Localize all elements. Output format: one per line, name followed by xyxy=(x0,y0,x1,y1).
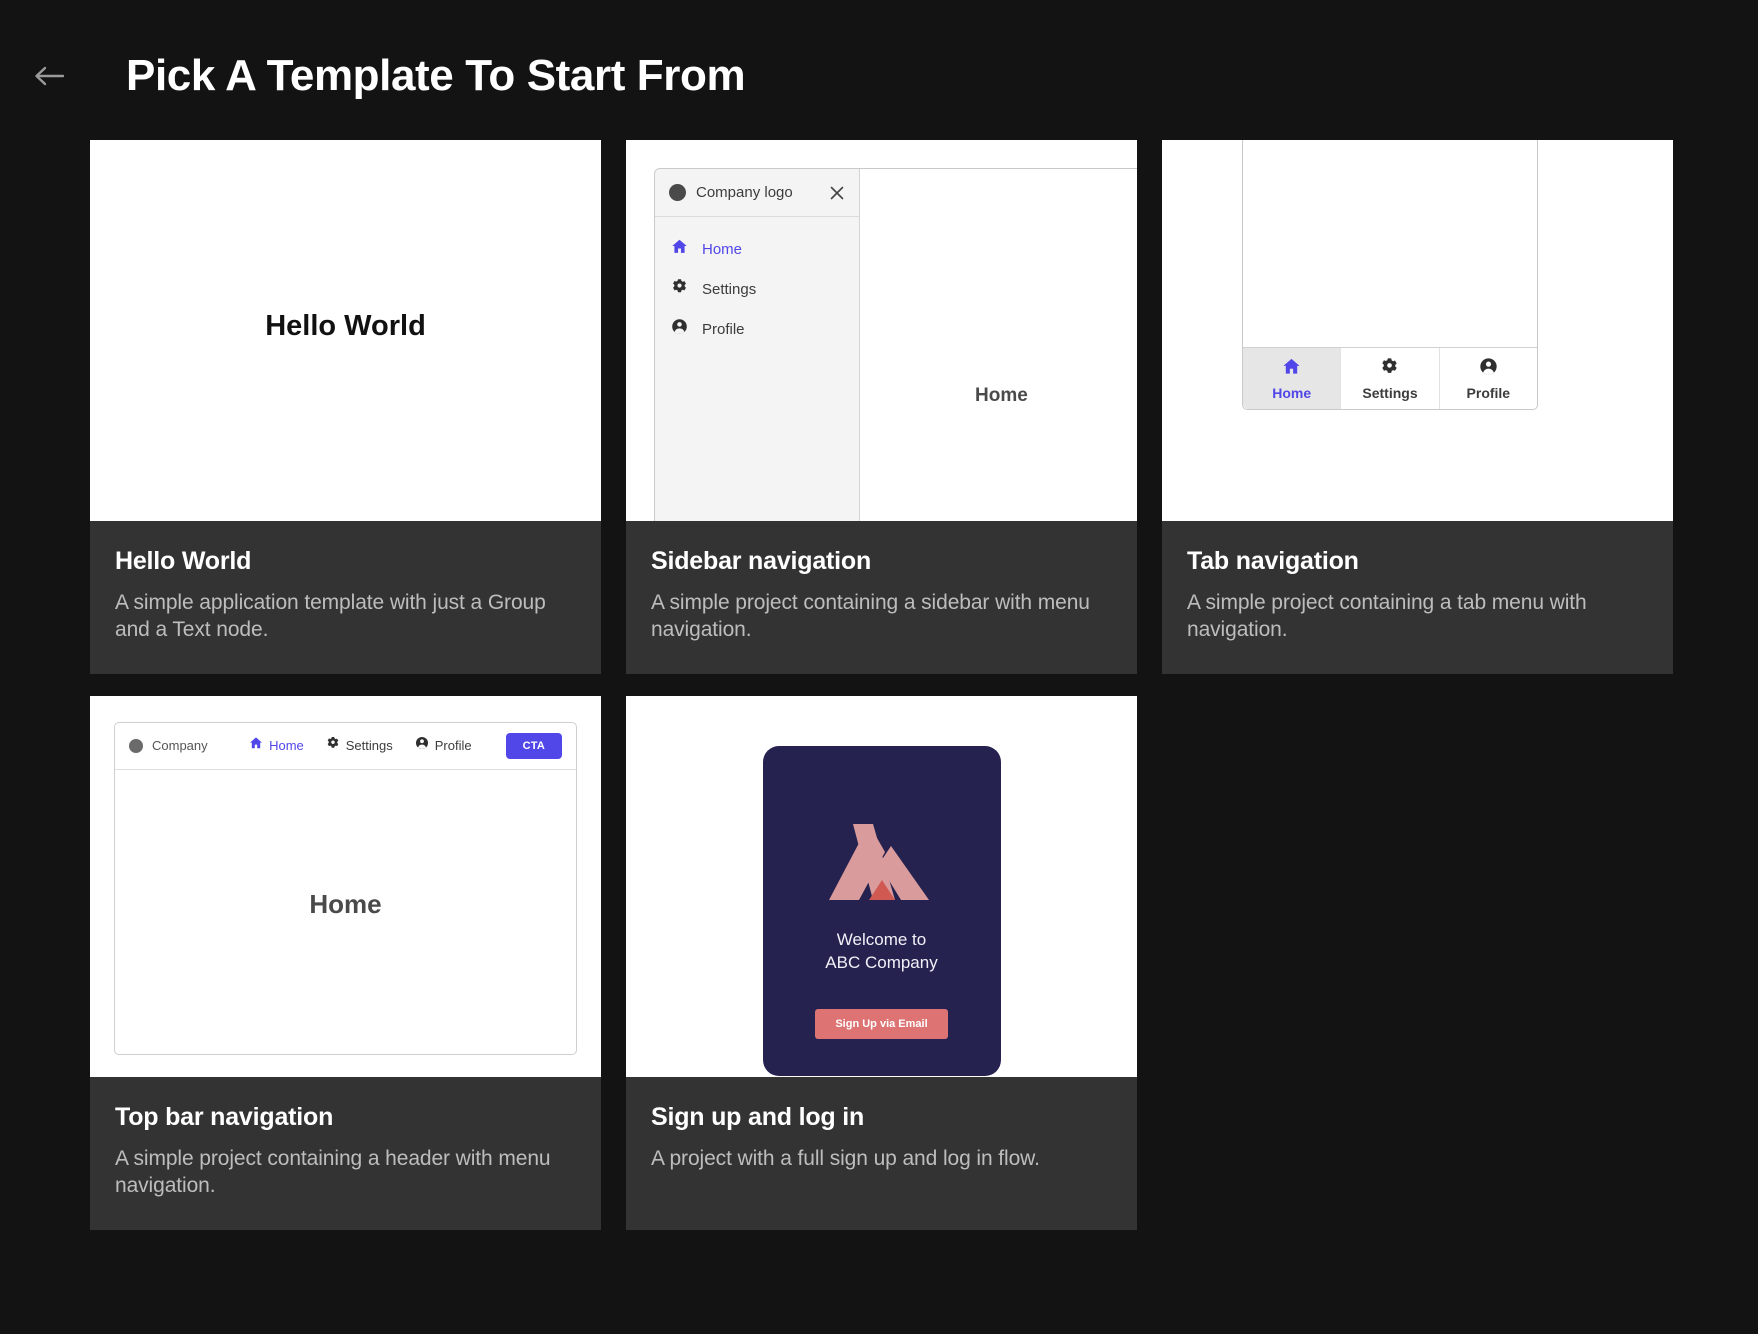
preview-sidebar-navigation: Company logo Home xyxy=(626,140,1137,521)
cta-button[interactable]: CTA xyxy=(506,733,562,759)
card-description: A simple project containing a header wit… xyxy=(115,1146,576,1200)
sidebar-item-label: Settings xyxy=(702,281,756,298)
sidebar-item-label: Home xyxy=(702,241,742,258)
preview-window: Company logo Home xyxy=(654,168,1137,521)
nav-item-profile[interactable]: Profile xyxy=(415,736,472,755)
nav-item-label: Home xyxy=(269,738,304,753)
preview-hello-text: Hello World xyxy=(265,310,426,343)
tab-home[interactable]: Home xyxy=(1243,348,1341,409)
gear-icon xyxy=(1380,357,1399,381)
card-info: Tab navigation A simple project containi… xyxy=(1162,521,1673,674)
person-icon xyxy=(415,736,429,755)
back-button[interactable] xyxy=(26,53,72,99)
card-info: Sign up and log in A project with a full… xyxy=(626,1077,1137,1230)
sidebar-item-settings[interactable]: Settings xyxy=(655,269,859,309)
page-header: Pick A Template To Start From xyxy=(0,0,1758,118)
preview-content-area: Home xyxy=(860,169,1137,521)
card-info: Top bar navigation A simple project cont… xyxy=(90,1077,601,1230)
nav-item-home[interactable]: Home xyxy=(249,736,304,755)
card-title: Sidebar navigation xyxy=(651,547,1112,576)
card-title: Hello World xyxy=(115,547,576,576)
nav-item-settings[interactable]: Settings xyxy=(326,736,393,755)
preview-hello-world: Hello World xyxy=(90,140,601,521)
home-icon xyxy=(249,736,263,755)
template-grid: Hello World Hello World A simple applica… xyxy=(0,118,1758,1230)
company-logo-label: Company logo xyxy=(696,184,819,201)
card-info: Hello World A simple application templat… xyxy=(90,521,601,674)
preview-content-area: Home xyxy=(115,770,576,1054)
card-title: Sign up and log in xyxy=(651,1103,1112,1132)
preview-phone-frame: Welcome to ABC Company Sign Up via Email xyxy=(763,746,1001,1076)
preview-sign-up-and-log-in: Welcome to ABC Company Sign Up via Email xyxy=(626,696,1137,1077)
preview-top-bar: Company Home xyxy=(115,723,576,770)
template-card-tab-navigation[interactable]: Home Settings Profile xyxy=(1162,140,1673,674)
preview-content-text: Home xyxy=(975,385,1028,407)
card-description: A simple application template with just … xyxy=(115,590,576,644)
template-card-top-bar-navigation[interactable]: Company Home xyxy=(90,696,601,1230)
preview-sidebar-menu: Home Settings Profile xyxy=(655,217,859,349)
preview-window: Company Home xyxy=(114,722,577,1055)
home-icon xyxy=(671,238,688,260)
sidebar-item-home[interactable]: Home xyxy=(655,229,859,269)
preview-window: Home Settings Profile xyxy=(1242,140,1538,410)
company-logo-label: Company xyxy=(152,738,208,753)
tab-label: Profile xyxy=(1467,385,1511,401)
nav-item-label: Profile xyxy=(435,738,472,753)
close-icon[interactable] xyxy=(829,185,845,201)
welcome-line-1: Welcome to xyxy=(825,929,937,952)
tab-settings[interactable]: Settings xyxy=(1341,348,1439,409)
tab-label: Home xyxy=(1272,385,1311,401)
preview-tab-navigation: Home Settings Profile xyxy=(1162,140,1673,521)
preview-sidebar-header: Company logo xyxy=(655,169,859,217)
abc-company-logo-icon xyxy=(829,824,935,911)
welcome-text: Welcome to ABC Company xyxy=(825,929,937,975)
preview-nav: Home Settings Profile xyxy=(249,736,472,755)
card-description: A project with a full sign up and log in… xyxy=(651,1146,1112,1173)
card-title: Tab navigation xyxy=(1187,547,1648,576)
card-description: A simple project containing a tab menu w… xyxy=(1187,590,1648,644)
template-card-hello-world[interactable]: Hello World Hello World A simple applica… xyxy=(90,140,601,674)
nav-item-label: Settings xyxy=(346,738,393,753)
person-icon xyxy=(1479,357,1498,381)
gear-icon xyxy=(326,736,340,755)
welcome-line-2: ABC Company xyxy=(825,952,937,975)
sidebar-item-profile[interactable]: Profile xyxy=(655,309,859,349)
template-card-sidebar-navigation[interactable]: Company logo Home xyxy=(626,140,1137,674)
preview-brand: Company xyxy=(129,738,208,753)
tab-profile[interactable]: Profile xyxy=(1440,348,1537,409)
template-card-sign-up-and-log-in[interactable]: Welcome to ABC Company Sign Up via Email… xyxy=(626,696,1137,1230)
preview-sidebar-panel: Company logo Home xyxy=(655,169,860,521)
company-logo-icon xyxy=(669,184,686,201)
sidebar-item-label: Profile xyxy=(702,321,745,338)
card-title: Top bar navigation xyxy=(115,1103,576,1132)
tab-label: Settings xyxy=(1362,385,1417,401)
gear-icon xyxy=(671,278,688,300)
card-description: A simple project containing a sidebar wi… xyxy=(651,590,1112,644)
preview-content-area xyxy=(1243,140,1537,347)
arrow-left-icon xyxy=(34,64,64,88)
company-logo-icon xyxy=(129,739,143,753)
preview-tab-bar: Home Settings Profile xyxy=(1243,347,1537,409)
sign-up-via-email-button[interactable]: Sign Up via Email xyxy=(815,1009,947,1039)
page-title: Pick A Template To Start From xyxy=(126,51,745,101)
preview-top-bar-navigation: Company Home xyxy=(90,696,601,1077)
preview-content-text: Home xyxy=(309,889,381,920)
card-info: Sidebar navigation A simple project cont… xyxy=(626,521,1137,674)
home-icon xyxy=(1282,357,1301,381)
person-icon xyxy=(671,318,688,340)
